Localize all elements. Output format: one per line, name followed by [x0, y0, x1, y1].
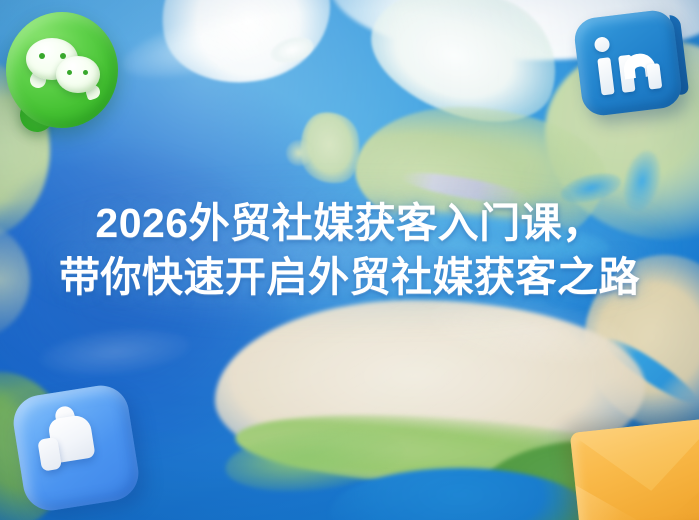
wechat-dot — [83, 70, 88, 75]
thumbs-up-icon[interactable] — [10, 382, 143, 515]
wechat-dot — [39, 53, 45, 59]
wechat-icon[interactable] — [6, 12, 118, 128]
promo-poster: 2026外贸社媒获客入门课， 带你快速开启外贸社媒获客之路 — [0, 0, 699, 520]
wechat-inner-bubble-small — [56, 56, 100, 93]
email-envelope-icon[interactable] — [570, 417, 699, 520]
wechat-dot — [60, 53, 66, 59]
wechat-dot — [67, 70, 72, 75]
linkedin-icon[interactable] — [572, 8, 683, 117]
linkedin-letter-n — [618, 51, 662, 93]
